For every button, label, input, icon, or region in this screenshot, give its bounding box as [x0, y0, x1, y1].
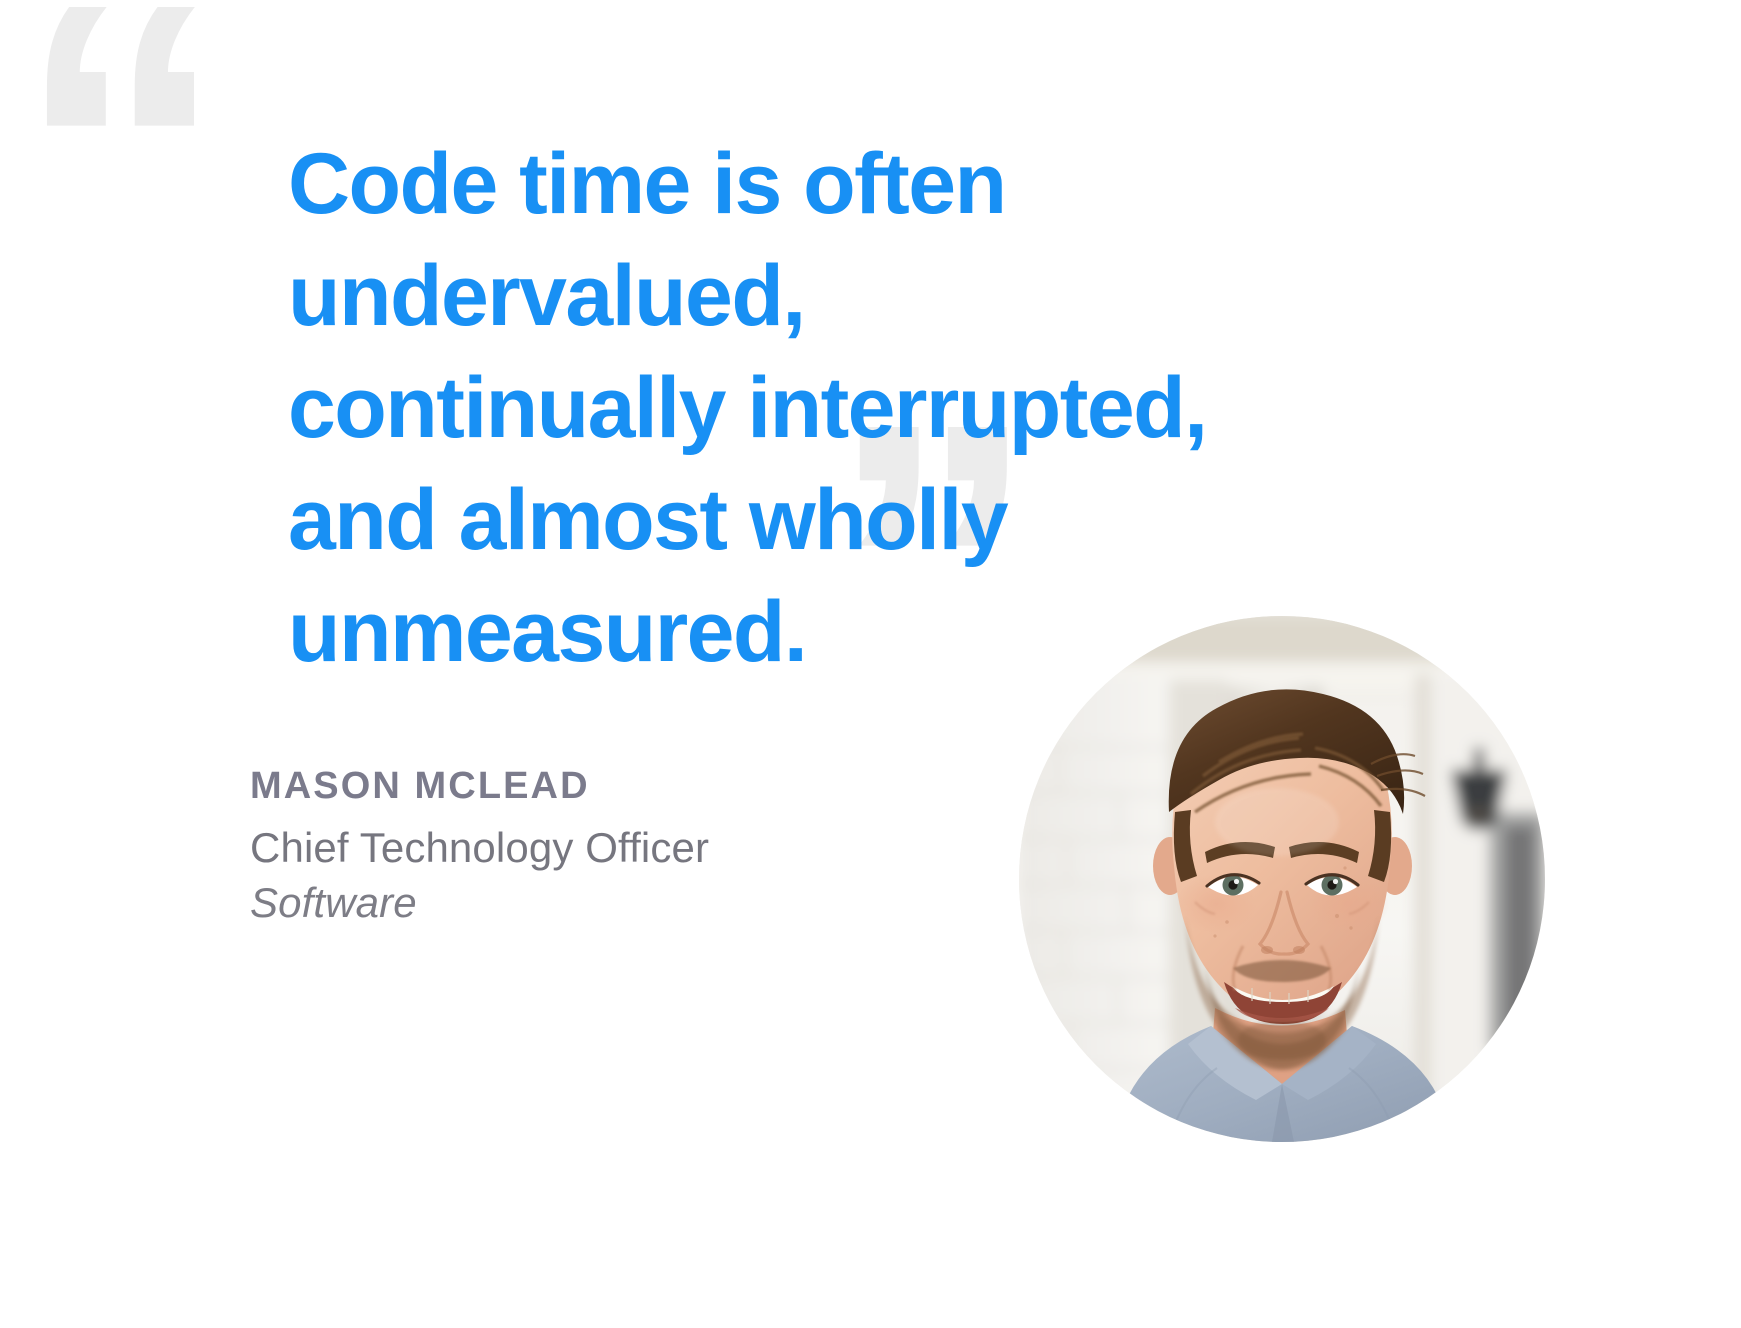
open-quote-icon: “	[16, 0, 218, 362]
testimonial-card: “ ” Code time is often undervalued, cont…	[0, 0, 1741, 1328]
author-company: Software	[250, 876, 709, 930]
author-portrait-avatar	[1019, 616, 1545, 1142]
quote-line: and almost wholly	[288, 464, 1348, 576]
quote-line: continually interrupted,	[288, 352, 1348, 464]
quote-line: undervalued,	[288, 240, 1348, 352]
author-role: Chief Technology Officer	[250, 820, 709, 876]
quote-line: Code time is often	[288, 128, 1348, 240]
author-name: MASON MCLEAD	[250, 762, 709, 810]
quote-text: Code time is often undervalued, continua…	[288, 128, 1348, 688]
attribution: MASON MCLEAD Chief Technology Officer So…	[250, 762, 709, 930]
